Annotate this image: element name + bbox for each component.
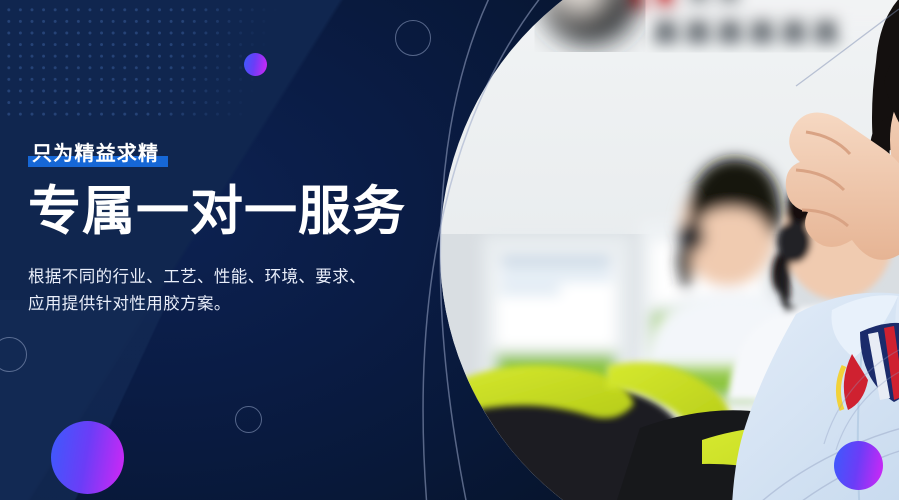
eyebrow-text: 只为精益求精 <box>32 143 159 165</box>
gradient-circle-bottom-left <box>51 421 124 494</box>
outline-ring-top <box>395 20 431 56</box>
eyebrow: 只为精益求精 <box>28 142 162 168</box>
outline-ring-lower-mid <box>235 406 262 433</box>
page-title: 专属一对一服务 <box>28 182 428 242</box>
gradient-circle-bottom-right <box>834 441 883 490</box>
hero-banner: 只为精益求精 专属一对一服务 根据不同的行业、工艺、性能、环境、要求、 应用提供… <box>0 0 899 500</box>
body-copy: 根据不同的行业、工艺、性能、环境、要求、 应用提供针对性用胶方案。 <box>28 264 428 317</box>
body-copy-line-1: 根据不同的行业、工艺、性能、环境、要求、 <box>28 264 428 291</box>
body-copy-line-2: 应用提供针对性用胶方案。 <box>28 291 428 318</box>
banner-copy: 只为精益求精 专属一对一服务 根据不同的行业、工艺、性能、环境、要求、 应用提供… <box>28 142 428 318</box>
gradient-circle-top-small <box>244 53 267 76</box>
